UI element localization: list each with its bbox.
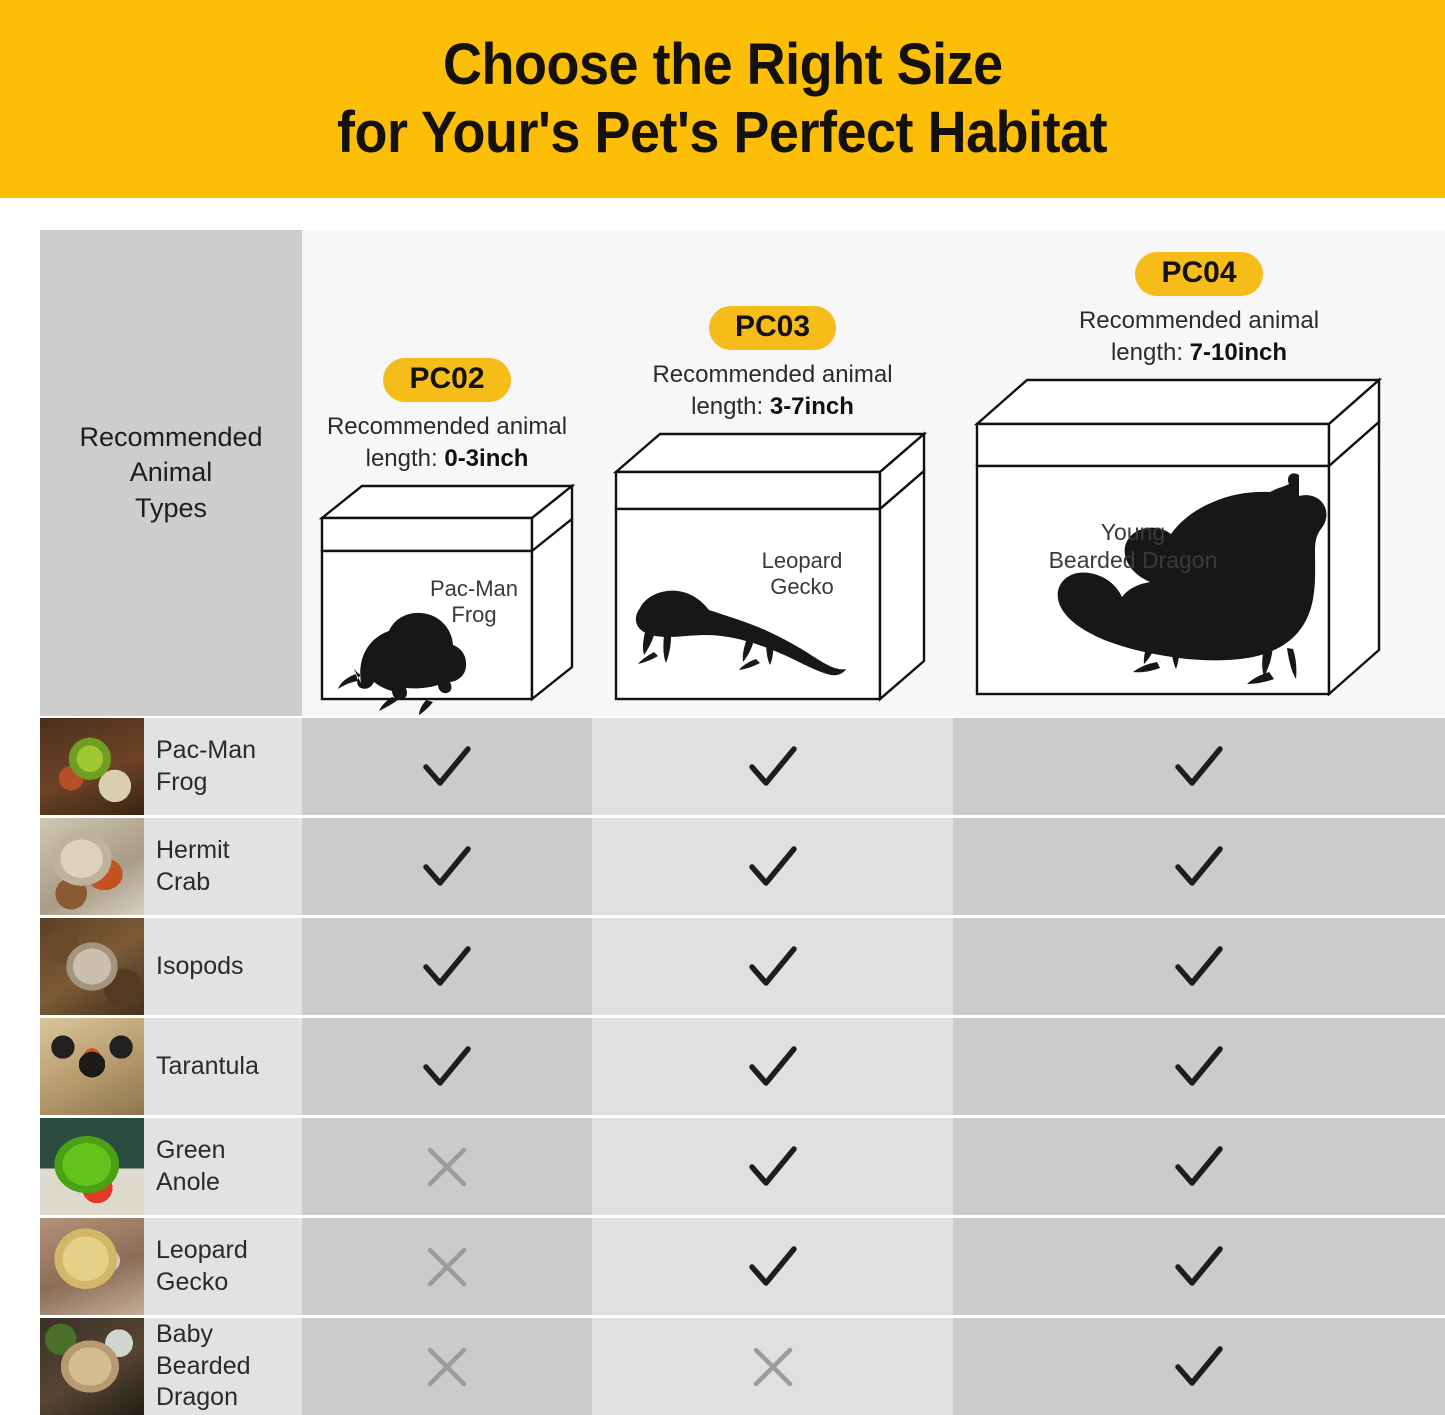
- tank-illustration-pc02: Pac-Man Frog: [314, 478, 579, 708]
- cell-pc04: [953, 918, 1445, 1015]
- cell-pc02: [302, 1118, 592, 1215]
- table-row: GreenAnole: [40, 1118, 1445, 1215]
- check-icon: [746, 945, 800, 989]
- row-header-cell: Recommended Animal Types: [40, 230, 302, 716]
- cell-pc03: [592, 718, 953, 815]
- check-icon: [746, 745, 800, 789]
- green-anole-photo: [40, 1118, 144, 1215]
- table-row: LeopardGecko: [40, 1218, 1445, 1315]
- row-label-line-1: Leopard: [156, 1236, 248, 1264]
- row-header-title: Recommended Animal Types: [79, 420, 262, 527]
- check-icon: [1172, 745, 1226, 789]
- spec-desc-pc03: Recommended animal length: 3-7inch: [592, 359, 953, 423]
- illustration-panel: PC02 Recommended animal length: 0-3inch: [302, 230, 1445, 716]
- cell-pc02: [302, 1318, 592, 1415]
- check-icon: [1172, 1345, 1226, 1389]
- check-icon: [1172, 1045, 1226, 1089]
- table-row: HermitCrab: [40, 818, 1445, 915]
- row-label-cell: Pac-ManFrog: [144, 718, 302, 815]
- row-label-line-2: Anole: [156, 1168, 220, 1196]
- spec-column-pc03: PC03 Recommended animal length: 3-7inch: [592, 230, 953, 716]
- row-label: Isopods: [156, 951, 244, 983]
- row-label: Pac-ManFrog: [156, 735, 256, 798]
- cell-pc04: [953, 1018, 1445, 1115]
- table-row: Baby BeardedDragon: [40, 1318, 1445, 1415]
- cross-icon: [424, 1244, 470, 1290]
- cross-icon: [750, 1344, 796, 1390]
- check-icon: [746, 1145, 800, 1189]
- badge-pc04: PC04: [1135, 252, 1262, 296]
- row-label-line-1: Green: [156, 1136, 225, 1164]
- spec-desc-label-pc04: length:: [1111, 339, 1183, 366]
- tank-label-line1-pc03: Leopard: [762, 548, 843, 573]
- table-row: Tarantula: [40, 1018, 1445, 1115]
- spec-desc-value-pc03: 3-7inch: [770, 393, 854, 420]
- pac-man-frog-photo: [40, 718, 144, 815]
- tank-illustration-pc04: Young Bearded Dragon: [969, 372, 1389, 712]
- page-title-line-1: Choose the Right Size: [443, 31, 1003, 99]
- row-header-line-1: Recommended: [79, 420, 262, 456]
- spec-desc-prefix-pc03: Recommended animal: [652, 361, 892, 388]
- row-label: Baby BeardedDragon: [156, 1319, 302, 1414]
- row-label: GreenAnole: [156, 1135, 225, 1198]
- spec-header-pc04: PC04 Recommended animal length: 7-10inch: [953, 252, 1445, 369]
- row-label-line-1: Isopods: [156, 952, 244, 980]
- table-row: Pac-ManFrog: [40, 718, 1445, 815]
- cell-pc03: [592, 1318, 953, 1415]
- check-icon: [746, 1245, 800, 1289]
- row-label: HermitCrab: [156, 835, 230, 898]
- check-icon: [746, 1045, 800, 1089]
- tank-label-line2-pc04: Bearded Dragon: [1049, 547, 1218, 573]
- leopard-gecko-photo: [40, 1218, 144, 1315]
- badge-pc02: PC02: [383, 358, 510, 402]
- cell-pc04: [953, 818, 1445, 915]
- check-icon: [1172, 1245, 1226, 1289]
- spec-desc-label-pc03: length:: [691, 393, 763, 420]
- tank-illustration-pc03: Leopard Gecko: [608, 426, 933, 711]
- cell-pc02: [302, 1218, 592, 1315]
- hermit-crab-photo: [40, 818, 144, 915]
- check-icon: [420, 745, 474, 789]
- tarantula-photo: [40, 1018, 144, 1115]
- table-row: Isopods: [40, 918, 1445, 1015]
- header-banner: Choose the Right Size for Your's Pet's P…: [0, 0, 1445, 198]
- row-label: LeopardGecko: [156, 1235, 248, 1298]
- spec-header-pc02: PC02 Recommended animal length: 0-3inch: [302, 358, 592, 475]
- cell-pc02: [302, 818, 592, 915]
- cell-pc03: [592, 1118, 953, 1215]
- comparison-board: Recommended Animal Types PC02 Recommende…: [0, 198, 1445, 1415]
- spec-desc-pc04: Recommended animal length: 7-10inch: [953, 305, 1445, 369]
- spec-desc-label-pc02: length:: [366, 445, 438, 472]
- row-label-cell: GreenAnole: [144, 1118, 302, 1215]
- row-label-cell: Baby BeardedDragon: [144, 1318, 302, 1415]
- cross-icon: [424, 1144, 470, 1190]
- row-label-cell: LeopardGecko: [144, 1218, 302, 1315]
- tank-label-line2-pc03: Gecko: [770, 574, 834, 599]
- row-label-cell: Tarantula: [144, 1018, 302, 1115]
- spec-column-pc04: PC04 Recommended animal length: 7-10inch: [953, 230, 1445, 716]
- tank-label-line2-pc02: Frog: [451, 602, 496, 627]
- cross-icon: [424, 1344, 470, 1390]
- check-icon: [746, 845, 800, 889]
- cell-pc02: [302, 1018, 592, 1115]
- row-label-line-1: Baby Bearded: [156, 1320, 251, 1380]
- cell-pc02: [302, 718, 592, 815]
- row-label-line-1: Pac-Man: [156, 736, 256, 764]
- row-label-line-1: Hermit: [156, 836, 230, 864]
- cell-pc03: [592, 918, 953, 1015]
- row-label-line-2: Gecko: [156, 1268, 228, 1296]
- check-icon: [420, 945, 474, 989]
- cell-pc04: [953, 1318, 1445, 1415]
- badge-pc03: PC03: [709, 306, 836, 350]
- tank-label-line1-pc02: Pac-Man: [430, 576, 518, 601]
- cell-pc04: [953, 718, 1445, 815]
- cell-pc02: [302, 918, 592, 1015]
- cell-pc03: [592, 1018, 953, 1115]
- row-label: Tarantula: [156, 1051, 259, 1083]
- tank-label-line1-pc04: Young: [1101, 519, 1165, 545]
- cell-pc03: [592, 818, 953, 915]
- spec-desc-value-pc04: 7-10inch: [1190, 339, 1287, 366]
- check-icon: [420, 1045, 474, 1089]
- spec-desc-pc02: Recommended animal length: 0-3inch: [302, 411, 592, 475]
- cell-pc04: [953, 1118, 1445, 1215]
- row-label-line-2: Crab: [156, 868, 210, 896]
- row-header-line-2: Animal: [79, 455, 262, 491]
- row-label-line-1: Tarantula: [156, 1052, 259, 1080]
- check-icon: [1172, 845, 1226, 889]
- row-label-cell: Isopods: [144, 918, 302, 1015]
- check-icon: [1172, 1145, 1226, 1189]
- row-header-line-3: Types: [79, 491, 262, 527]
- row-label-line-2: Frog: [156, 768, 207, 796]
- cell-pc03: [592, 1218, 953, 1315]
- baby-bearded-dragon-photo: [40, 1318, 144, 1415]
- row-label-line-2: Dragon: [156, 1383, 238, 1411]
- spec-desc-prefix-pc04: Recommended animal: [1079, 307, 1319, 334]
- spec-header-pc03: PC03 Recommended animal length: 3-7inch: [592, 306, 953, 423]
- check-icon: [1172, 945, 1226, 989]
- spec-desc-value-pc02: 0-3inch: [444, 445, 528, 472]
- spec-column-pc02: PC02 Recommended animal length: 0-3inch: [302, 230, 592, 716]
- cell-pc04: [953, 1218, 1445, 1315]
- check-icon: [420, 845, 474, 889]
- spec-desc-prefix-pc02: Recommended animal: [327, 413, 567, 440]
- page-title-line-2: for Your's Pet's Perfect Habitat: [337, 99, 1107, 167]
- row-label-cell: HermitCrab: [144, 818, 302, 915]
- isopods-photo: [40, 918, 144, 1015]
